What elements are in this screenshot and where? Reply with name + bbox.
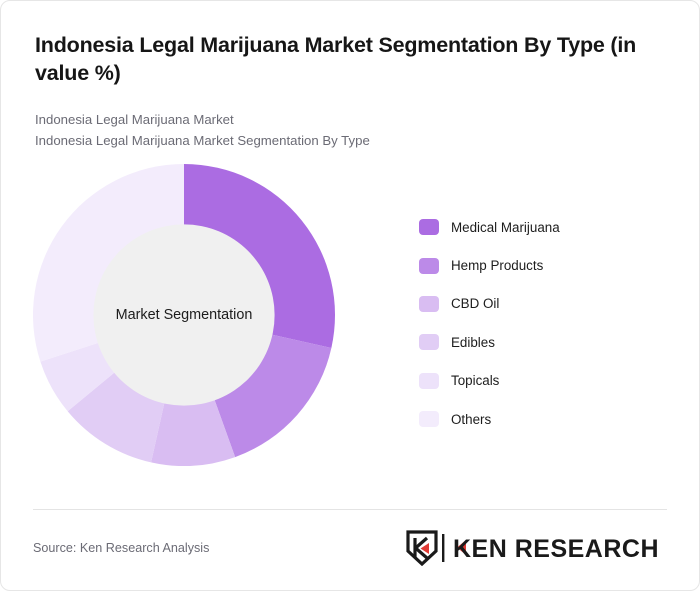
- legend-item-label: Topicals: [451, 373, 499, 388]
- legend-item[interactable]: Topicals: [419, 362, 669, 400]
- legend-item-label: Others: [451, 412, 491, 427]
- ken-research-shield-icon: [405, 530, 439, 566]
- source-note: Source: Ken Research Analysis: [33, 541, 209, 555]
- chart-body: Market Segmentation Medical MarijuanaHem…: [1, 151, 699, 481]
- legend-swatch-icon: [419, 373, 439, 389]
- legend-item-label: Medical Marijuana: [451, 220, 560, 235]
- ken-research-wordmark-icon: KEN RESEARCH: [441, 533, 669, 563]
- legend-item[interactable]: Medical Marijuana: [419, 208, 669, 246]
- legend-item[interactable]: Hemp Products: [419, 246, 669, 284]
- donut-hole: [93, 224, 274, 405]
- legend-item[interactable]: Others: [419, 400, 669, 438]
- legend-swatch-icon: [419, 258, 439, 274]
- chart-card: Indonesia Legal Marijuana Market Segment…: [0, 0, 700, 591]
- subtitle-market: Indonesia Legal Marijuana Market: [35, 109, 665, 130]
- footer-divider: [33, 509, 667, 510]
- legend-item-label: Edibles: [451, 335, 495, 350]
- legend-item[interactable]: CBD Oil: [419, 285, 669, 323]
- legend-swatch-icon: [419, 296, 439, 312]
- subtitle-segmentation: Indonesia Legal Marijuana Market Segment…: [35, 130, 665, 151]
- legend-swatch-icon: [419, 334, 439, 350]
- subtitle-group: Indonesia Legal Marijuana Market Indones…: [35, 109, 665, 151]
- donut-svg: [33, 164, 335, 466]
- legend-item-label: Hemp Products: [451, 258, 543, 273]
- legend-swatch-icon: [419, 411, 439, 427]
- chart-footer: Source: Ken Research Analysis KEN RESEAR…: [33, 528, 669, 568]
- donut-chart: Market Segmentation: [33, 164, 335, 466]
- legend-item-label: CBD Oil: [451, 296, 499, 311]
- chart-legend: Medical MarijuanaHemp ProductsCBD OilEdi…: [419, 208, 669, 438]
- chart-header: Indonesia Legal Marijuana Market Segment…: [1, 1, 699, 151]
- brand-logo: KEN RESEARCH: [405, 530, 669, 566]
- svg-text:KEN RESEARCH: KEN RESEARCH: [453, 535, 659, 563]
- page-title: Indonesia Legal Marijuana Market Segment…: [35, 31, 660, 88]
- legend-item[interactable]: Edibles: [419, 323, 669, 361]
- legend-swatch-icon: [419, 219, 439, 235]
